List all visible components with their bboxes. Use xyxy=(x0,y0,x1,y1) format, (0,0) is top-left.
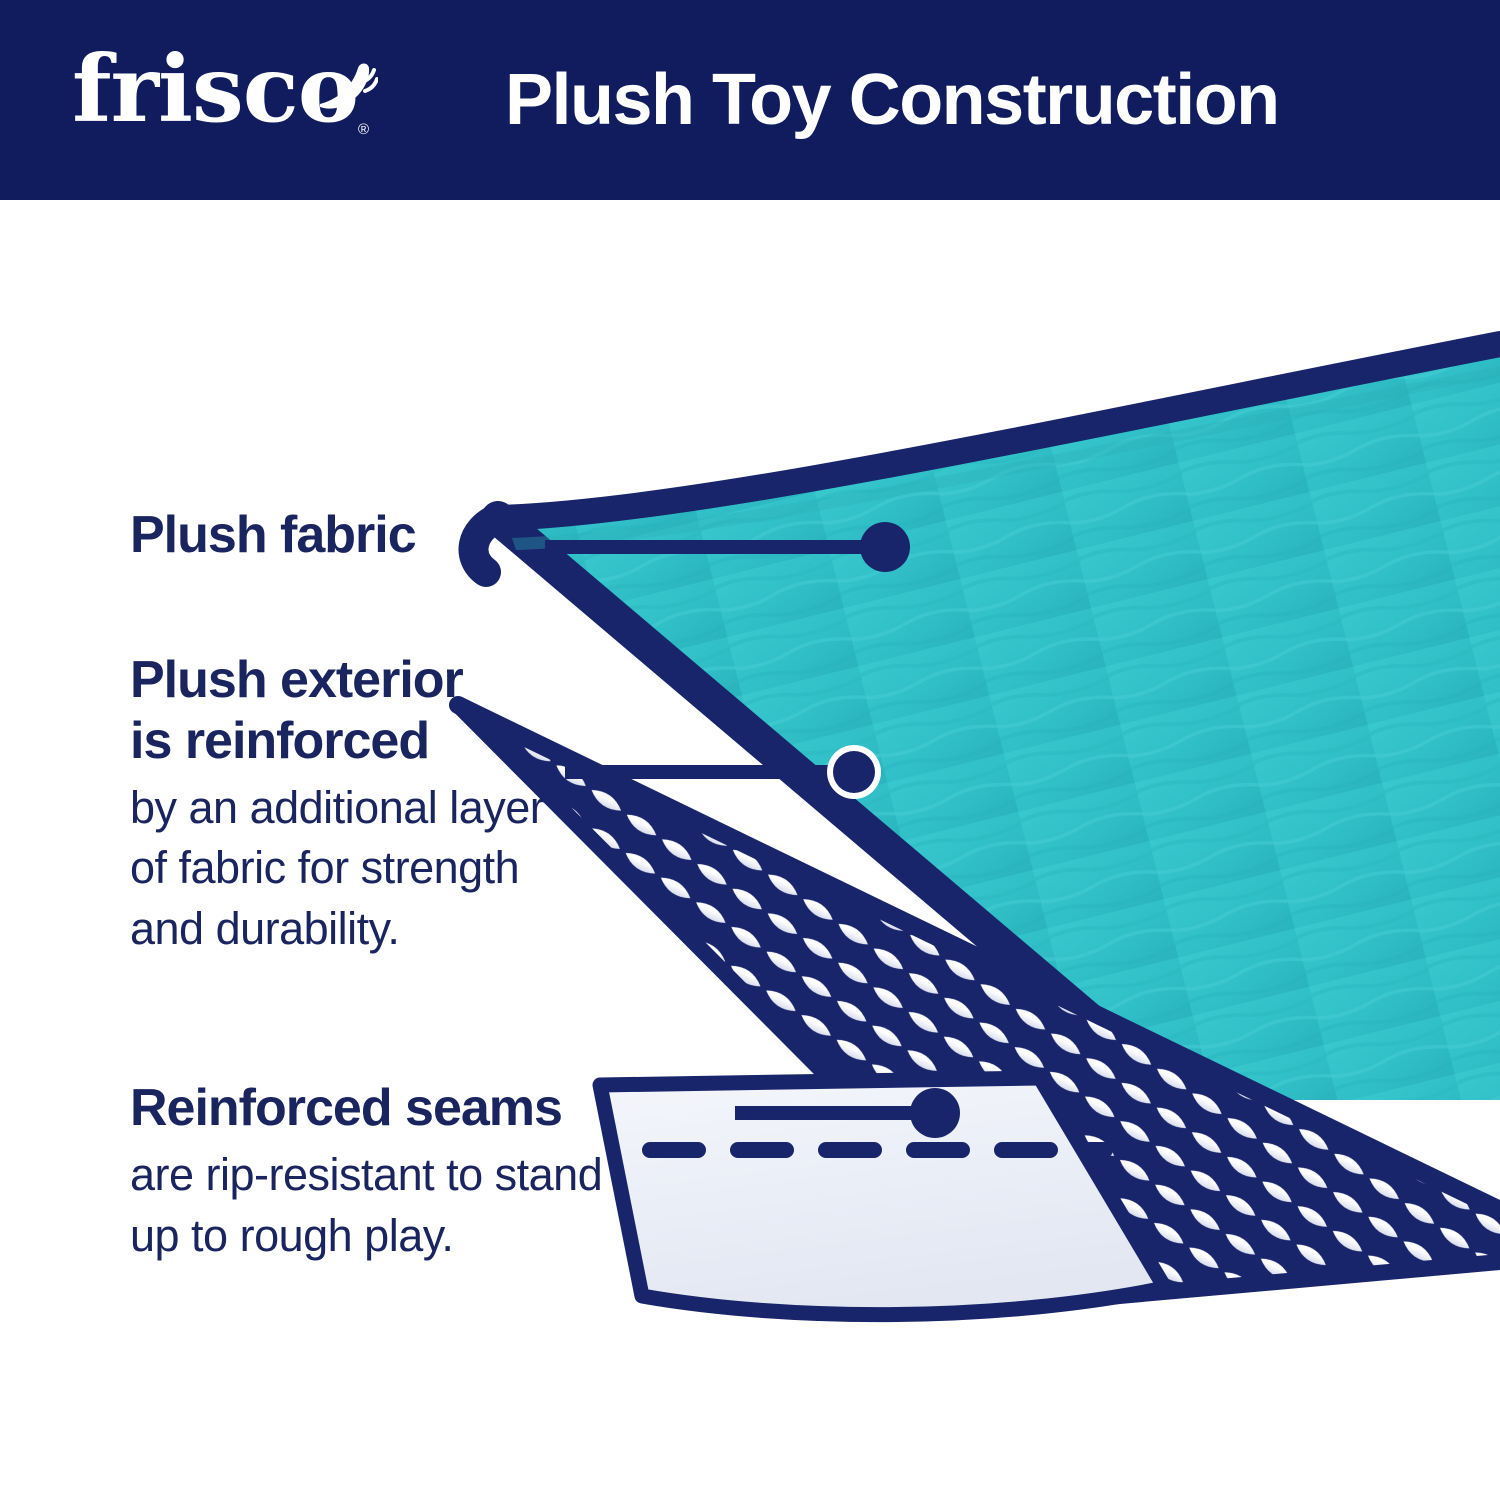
callout-plush-exterior: Plush exterior is reinforced by an addit… xyxy=(130,650,544,960)
callout-reinforced-seams-heading: Reinforced seams xyxy=(130,1078,602,1139)
callout-plush-fabric: Plush fabric xyxy=(130,505,416,566)
callout-plush-exterior-heading: Plush exterior is reinforced xyxy=(130,650,544,772)
frisco-logo-wordmark: frisco xyxy=(72,43,358,135)
callout-reinforced-seams: Reinforced seams are rip-resistant to st… xyxy=(130,1078,602,1266)
header-bar: frisco ® Plush Toy Construction xyxy=(0,0,1500,200)
registered-trademark-icon: ® xyxy=(358,122,369,137)
callout-plush-exterior-body: by an additional layer of fabric for str… xyxy=(130,778,544,960)
callout-reinforced-seams-body: are rip-resistant to stand up to rough p… xyxy=(130,1145,602,1267)
callout-plush-fabric-heading: Plush fabric xyxy=(130,505,416,566)
leader-dot-plush-exterior xyxy=(833,751,875,793)
page-title: Plush Toy Construction xyxy=(505,0,1279,200)
leader-dot-reinforced-seams xyxy=(910,1088,960,1138)
infographic-page: frisco ® Plush Toy Construction xyxy=(0,0,1500,1500)
frisco-logo: frisco ® xyxy=(72,38,392,148)
leader-dot-plush-fabric xyxy=(860,522,910,572)
